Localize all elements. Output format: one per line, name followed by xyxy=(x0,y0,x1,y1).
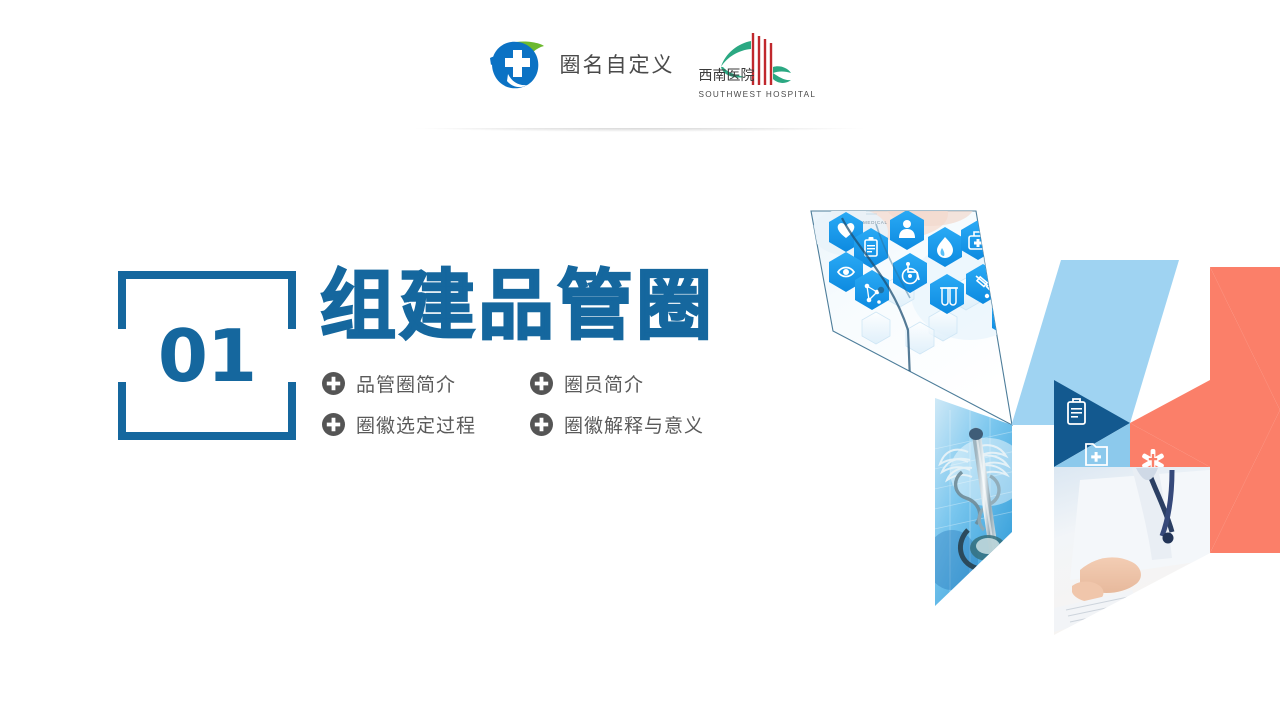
header-band: 圈名自定义 西南医院 SOUTHWEST HOSPITAL xyxy=(0,0,1280,128)
doctor-typing-photo-panel xyxy=(1054,467,1210,635)
medical-cross-bird-logo-icon xyxy=(486,34,548,94)
caduceus-photo-panel xyxy=(926,398,1026,606)
hospital-name-en: SOUTHWEST HOSPITAL xyxy=(699,90,817,99)
plus-circle-icon xyxy=(530,413,553,436)
header-logos-row: 圈名自定义 西南医院 SOUTHWEST HOSPITAL xyxy=(0,0,1280,128)
list-item-label: 圈徽选定过程 xyxy=(356,411,476,438)
list-item[interactable]: 圈徽解释与意义 xyxy=(530,411,738,438)
hospital-name-cn: 西南医院 xyxy=(699,65,755,85)
list-item-label: 品管圈简介 xyxy=(356,370,456,397)
list-item[interactable]: 圈员简介 xyxy=(530,370,738,397)
medical-hexagon-icons-panel: MEDICAL xyxy=(811,186,1030,425)
section-number: 01 xyxy=(118,271,296,440)
plus-circle-icon xyxy=(530,372,553,395)
plus-circle-icon xyxy=(322,413,345,436)
light-blue-parallelogram-panel xyxy=(1012,260,1180,425)
list-item-label: 圈徽解释与意义 xyxy=(564,411,704,438)
list-item-label: 圈员简介 xyxy=(564,370,644,397)
list-item[interactable]: 圈徽选定过程 xyxy=(322,411,530,438)
brand-name: 圈名自定义 xyxy=(560,49,675,79)
section-bullet-list: 品管圈简介 圈员简介 圈徽选定过程 圈徽解释与意义 xyxy=(322,370,752,438)
plus-circle-icon xyxy=(322,372,345,395)
southwest-hospital-logo-icon: 西南医院 SOUTHWEST HOSPITAL xyxy=(699,27,795,101)
medical-collage-graphic: MEDICAL xyxy=(780,180,1280,670)
list-item[interactable]: 品管圈简介 xyxy=(322,370,530,397)
section-number-frame: 01 xyxy=(118,271,296,440)
page-title: 组建品管圈 xyxy=(320,268,715,344)
svg-text:MEDICAL: MEDICAL xyxy=(863,220,888,225)
header-shadow xyxy=(300,126,980,140)
